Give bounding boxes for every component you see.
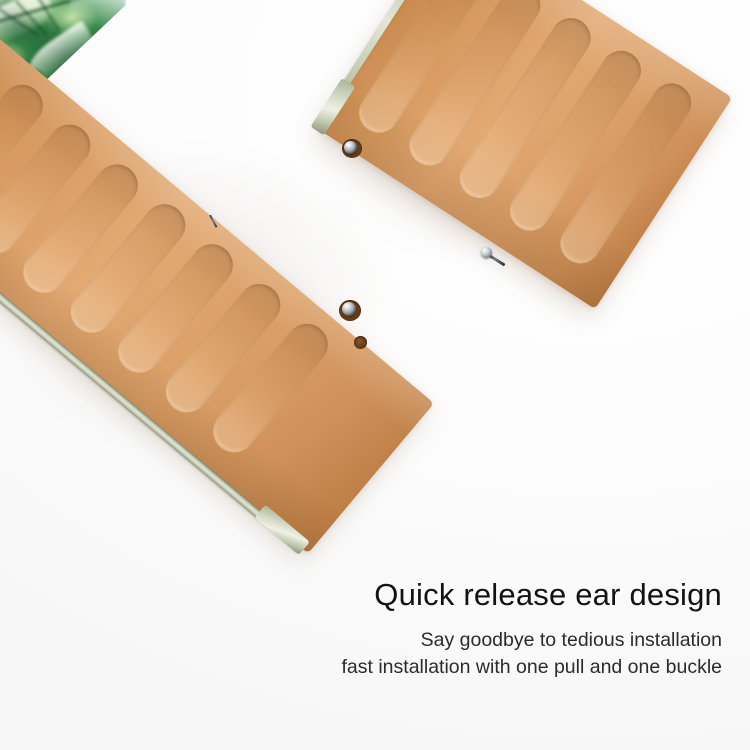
caption-block: Quick release ear design Say goodbye to … [162, 576, 722, 681]
lower-band-second-notch [354, 336, 367, 349]
upper-band-quick-release-ball [344, 141, 357, 154]
lower-band-quick-release-ball [342, 302, 356, 316]
upper-band-pin-head [481, 247, 492, 258]
headline: Quick release ear design [162, 576, 722, 614]
product-image: Quick release ear design Say goodbye to … [0, 0, 750, 750]
subline-2: fast installation with one pull and one … [162, 654, 722, 681]
subline-1: Say goodbye to tedious installation [162, 627, 722, 654]
subline-block: Say goodbye to tedious installation fast… [162, 627, 722, 681]
